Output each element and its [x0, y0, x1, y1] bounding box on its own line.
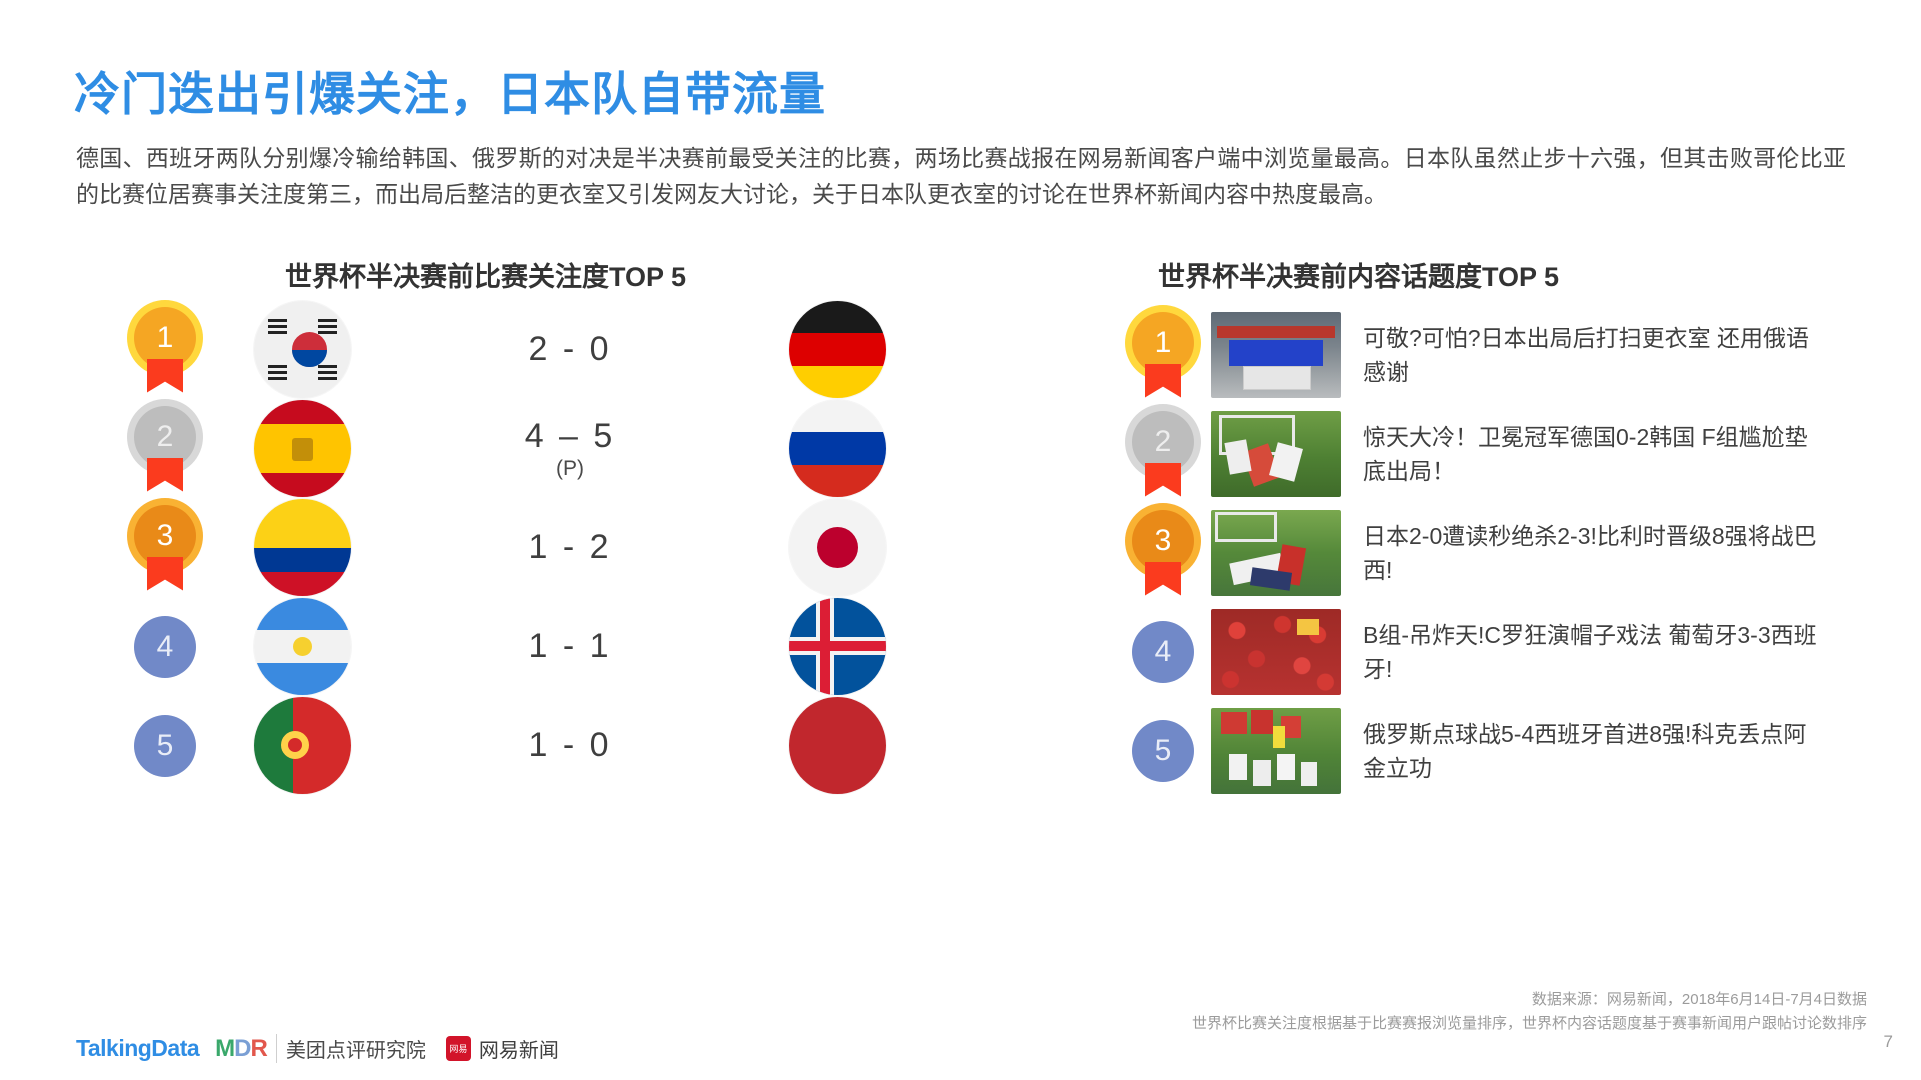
score-value: 1 - 2 [385, 528, 755, 567]
ribbon-icon [147, 557, 183, 591]
news-title[interactable]: 可敬?可怕?日本出局后打扫更衣室 还用俄语感谢 [1363, 321, 1818, 389]
source-line-1: 数据来源：网易新闻，2018年6月14日-7月4日数据 [1192, 988, 1867, 1012]
news-title[interactable]: 俄罗斯点球战5-4西班牙首进8强!科克丢点阿金立功 [1363, 717, 1818, 785]
score-cell: 1 - 2 [385, 528, 755, 567]
ribbon-icon [1145, 463, 1181, 497]
talkingdata-logo: TalkingData [76, 1035, 199, 1062]
score-cell: 1 - 1 [385, 627, 755, 666]
ribbon-icon [1145, 562, 1181, 596]
rank-cell: 3 [110, 505, 220, 591]
rank-cell: 5 [110, 715, 220, 777]
score-value: 2 - 0 [385, 330, 755, 369]
news-title[interactable]: 惊天大冷！卫冕冠军德国0-2韩国 F组尴尬垫底出局！ [1363, 420, 1818, 488]
score-cell: 1 - 0 [385, 726, 755, 765]
score-value: 4 – 5 [385, 417, 755, 456]
page-title: 冷门迭出引爆关注，日本队自带流量 [74, 58, 826, 124]
away-flag-cell [755, 499, 920, 596]
rank-cell: 2 [1115, 411, 1211, 497]
news-thumbnail[interactable] [1211, 609, 1341, 695]
rank-cell: 1 [1115, 312, 1211, 398]
germany-flag-icon [789, 301, 886, 398]
away-flag-cell [755, 400, 920, 497]
rank-cell: 5 [1115, 720, 1211, 782]
away-flag-cell [755, 697, 920, 794]
logo-bar: TalkingData MDR 美团点评研究院 网易 网易新闻 [76, 1034, 559, 1063]
home-flag-cell [220, 301, 385, 398]
rank-badge: 5 [1132, 720, 1194, 782]
rank-badge: 4 [1132, 621, 1194, 683]
argentina-flag-icon [254, 598, 351, 695]
silver-medal-icon: 2 [1132, 411, 1194, 497]
colombia-flag-icon [254, 499, 351, 596]
news-thumbnail[interactable] [1211, 510, 1341, 596]
iceland-flag-icon [789, 598, 886, 695]
source-line-2: 世界杯比赛关注度根据基于比赛赛报浏览量排序，世界杯内容话题度基于赛事新闻用户跟帖… [1192, 1012, 1867, 1036]
right-section-heading: 世界杯半决赛前内容话题度TOP 5 [1158, 255, 1559, 294]
score-cell: 4 – 5 (P) [385, 417, 755, 481]
table-row: 4 1 - 1 [110, 597, 920, 696]
ribbon-icon [1145, 364, 1181, 398]
rank-cell: 4 [110, 616, 220, 678]
list-item[interactable]: 1 可敬?可怕?日本出局后打扫更衣室 还用俄语感谢 [1115, 305, 1875, 404]
news-title[interactable]: 日本2-0遭读秒绝杀2-3!比利时晋级8强将战巴西! [1363, 519, 1818, 587]
news-topic-list: 1 可敬?可怕?日本出局后打扫更衣室 还用俄语感谢 2 惊天大冷！卫冕冠军德国0… [1115, 305, 1875, 800]
bronze-medal-icon: 3 [134, 505, 196, 591]
japan-flag-icon [789, 499, 886, 596]
gold-medal-icon: 1 [1132, 312, 1194, 398]
list-item[interactable]: 3 日本2-0遭读秒绝杀2-3!比利时晋级8强将战巴西! [1115, 503, 1875, 602]
rank-cell: 3 [1115, 510, 1211, 596]
south-korea-flag-icon [254, 301, 351, 398]
spain-flag-icon [254, 400, 351, 497]
score-value: 1 - 1 [385, 627, 755, 666]
rank-cell: 4 [1115, 621, 1211, 683]
netease-badge-icon: 网易 [446, 1036, 471, 1061]
gold-medal-icon: 1 [134, 307, 196, 393]
away-flag-cell [755, 301, 920, 398]
ribbon-icon [147, 458, 183, 492]
silver-medal-icon: 2 [134, 406, 196, 492]
netease-news-label: 网易新闻 [479, 1034, 559, 1063]
mdr-logo: MDR [215, 1035, 267, 1063]
table-row: 1 2 - 0 [110, 300, 920, 399]
home-flag-cell [220, 598, 385, 695]
list-item[interactable]: 5 俄罗斯点球战5-4西班牙首进8强!科克丢点阿金立功 [1115, 701, 1875, 800]
match-attention-list: 1 2 - 0 [110, 300, 920, 795]
score-value: 1 - 0 [385, 726, 755, 765]
news-thumbnail[interactable] [1211, 411, 1341, 497]
table-row: 3 1 - 2 [110, 498, 920, 597]
rank-badge: 5 [134, 715, 196, 777]
morocco-flag-icon [789, 697, 886, 794]
news-title[interactable]: B组-吊炸天!C罗狂演帽子戏法 葡萄牙3-3西班牙! [1363, 618, 1818, 686]
home-flag-cell [220, 697, 385, 794]
intro-paragraph: 德国、西班牙两队分别爆冷输给韩国、俄罗斯的对决是半决赛前最受关注的比赛，两场比赛… [76, 140, 1846, 212]
score-cell: 2 - 0 [385, 330, 755, 369]
table-row: 5 1 - 0 [110, 696, 920, 795]
home-flag-cell [220, 499, 385, 596]
news-thumbnail[interactable] [1211, 708, 1341, 794]
list-item[interactable]: 4 B组-吊炸天!C罗狂演帽子戏法 葡萄牙3-3西班牙! [1115, 602, 1875, 701]
list-item[interactable]: 2 惊天大冷！卫冕冠军德国0-2韩国 F组尴尬垫底出局！ [1115, 404, 1875, 503]
russia-flag-icon [789, 400, 886, 497]
news-thumbnail[interactable] [1211, 312, 1341, 398]
away-flag-cell [755, 598, 920, 695]
page-number: 7 [1884, 1032, 1893, 1052]
portugal-flag-icon [254, 697, 351, 794]
table-row: 2 4 – 5 (P) [110, 399, 920, 498]
source-note: 数据来源：网易新闻，2018年6月14日-7月4日数据 世界杯比赛关注度根据基于… [1192, 988, 1867, 1036]
ribbon-icon [147, 359, 183, 393]
home-flag-cell [220, 400, 385, 497]
left-section-heading: 世界杯半决赛前比赛关注度TOP 5 [285, 255, 686, 294]
bronze-medal-icon: 3 [1132, 510, 1194, 596]
netease-logo: 网易 网易新闻 [446, 1034, 559, 1063]
rank-badge: 4 [134, 616, 196, 678]
score-note: (P) [385, 457, 755, 481]
meituan-research-logo: 美团点评研究院 [276, 1034, 426, 1063]
rank-cell: 2 [110, 406, 220, 492]
rank-cell: 1 [110, 307, 220, 393]
